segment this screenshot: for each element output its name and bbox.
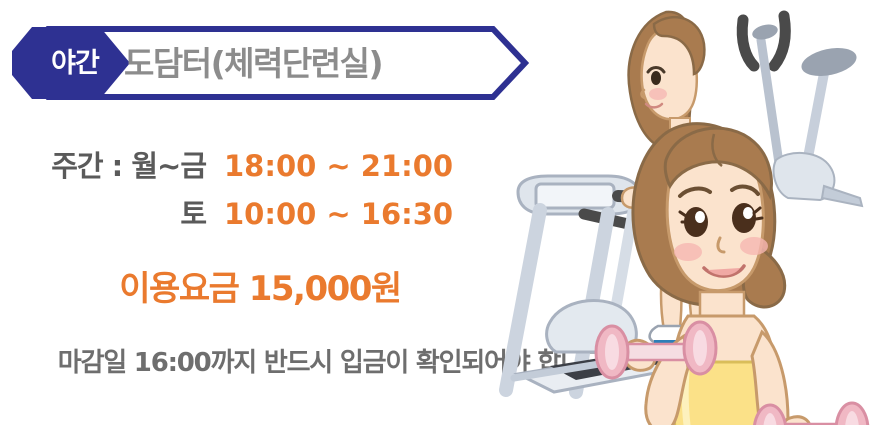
schedule-row-time: 10:00 ~ 16:30 — [206, 200, 453, 229]
schedule-row-label: 토 — [0, 200, 206, 229]
fitness-illustration — [488, 0, 877, 425]
schedule-row: 주간 : 월~금 18:00 ~ 21:00 — [0, 152, 470, 200]
banner-title: 도담터(체력단련실) — [124, 26, 382, 100]
poster-root: 야간 도담터(체력단련실) 주간 : 월~금 18:00 ~ 21:00 토 1… — [0, 0, 877, 425]
dumbbell-right-icon — [754, 403, 868, 425]
schedule-row: 토 10:00 ~ 16:30 — [0, 200, 470, 248]
banner-badge-label: 야간 — [38, 26, 112, 100]
schedule-block: 주간 : 월~금 18:00 ~ 21:00 토 10:00 ~ 16:30 — [0, 152, 470, 248]
price-text: 이용요금 15,000원 — [0, 272, 520, 306]
header-banner: 야간 도담터(체력단련실) — [12, 26, 529, 100]
schedule-row-time: 18:00 ~ 21:00 — [206, 152, 453, 181]
schedule-row-label: 주간 : 월~금 — [0, 152, 206, 181]
